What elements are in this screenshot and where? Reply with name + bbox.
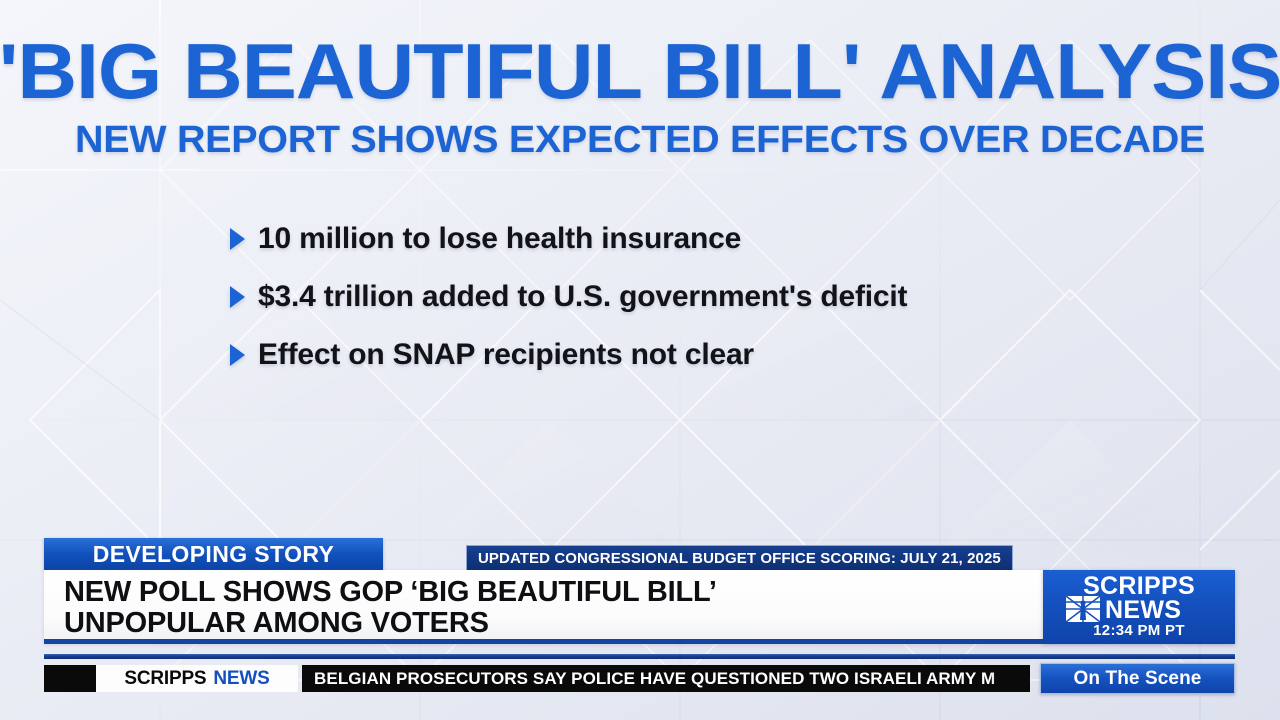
- network-logo-bug: SCRIPPS NEWS 12:34 PM PT: [1043, 570, 1235, 644]
- status-badge-developing-story: DEVELOPING STORY: [44, 538, 383, 570]
- on-the-scene-label: On The Scene: [1074, 668, 1202, 690]
- bullet-list: 10 million to lose health insurance $3.4…: [228, 210, 1128, 384]
- list-item-label: 10 million to lose health insurance: [258, 222, 741, 256]
- list-item: Effect on SNAP recipients not clear: [228, 326, 1128, 384]
- news-ticker[interactable]: BELGIAN PROSECUTORS SAY POLICE HAVE QUES…: [302, 665, 1030, 692]
- lower-third-headline-panel: NEW POLL SHOWS GOP ‘BIG BEAUTIFUL BILL’ …: [44, 570, 1044, 644]
- triangle-right-icon: [228, 343, 258, 367]
- list-item-label: Effect on SNAP recipients not clear: [258, 338, 754, 372]
- triangle-right-icon: [228, 227, 258, 251]
- ticker-brand-label: SCRIPPS NEWS: [96, 665, 298, 692]
- list-item: $3.4 trillion added to U.S. government's…: [228, 268, 1128, 326]
- scripps-lighthouse-icon: [1066, 596, 1100, 622]
- source-attribution-label: UPDATED CONGRESSIONAL BUDGET OFFICE SCOR…: [478, 550, 1001, 567]
- ticker-fade-overlay: [990, 665, 1030, 692]
- headline-block: 'BIG BEAUTIFUL BILL' ANALYSIS NEW REPORT…: [0, 34, 1280, 159]
- ticker-left-block: [44, 665, 96, 692]
- ticker-brand-primary: SCRIPPS: [124, 668, 206, 690]
- on-the-scene-badge: On The Scene: [1040, 663, 1235, 694]
- triangle-right-icon: [228, 285, 258, 309]
- list-item: 10 million to lose health insurance: [228, 210, 1128, 268]
- lower-third-headline-line2: UNPOPULAR AMONG VOTERS: [64, 608, 1044, 639]
- lower-third-headline-line1: NEW POLL SHOWS GOP ‘BIG BEAUTIFUL BILL’: [64, 577, 1044, 608]
- list-item-label: $3.4 trillion added to U.S. government's…: [258, 280, 907, 314]
- status-badge-label: DEVELOPING STORY: [93, 541, 335, 568]
- ticker-brand-secondary: NEWS: [213, 668, 269, 690]
- page-subtitle: NEW REPORT SHOWS EXPECTED EFFECTS OVER D…: [0, 121, 1280, 159]
- news-ticker-text: BELGIAN PROSECUTORS SAY POLICE HAVE QUES…: [302, 669, 995, 689]
- broadcast-clock: 12:34 PM PT: [1043, 622, 1235, 639]
- ticker-divider: [44, 654, 1235, 659]
- logo-brand-bottom: NEWS: [1105, 596, 1181, 625]
- page-title: 'BIG BEAUTIFUL BILL' ANALYSIS: [0, 34, 1280, 109]
- source-attribution-bar: UPDATED CONGRESSIONAL BUDGET OFFICE SCOR…: [466, 545, 1013, 571]
